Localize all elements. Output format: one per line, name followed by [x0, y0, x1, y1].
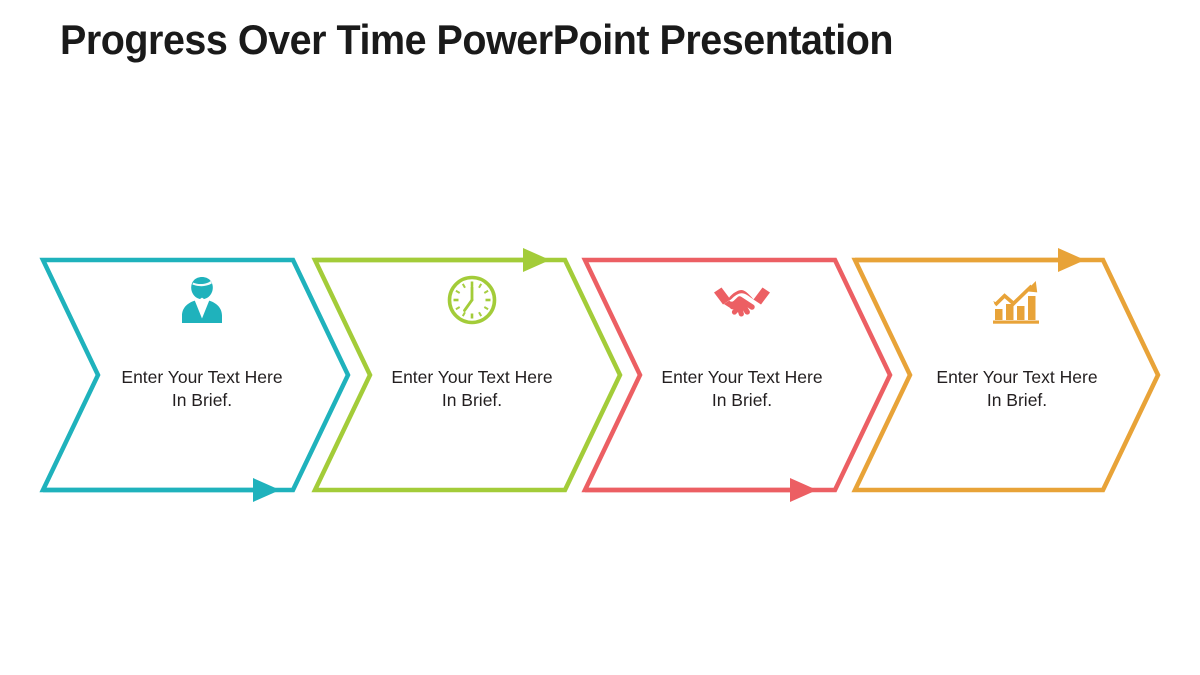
handshake-icon: [711, 282, 773, 322]
slide-canvas: Progress Over Time PowerPoint Presentati…: [0, 0, 1200, 675]
page-title: Progress Over Time PowerPoint Presentati…: [60, 14, 1085, 66]
chevron-process-diagram: Enter Your Text Here In Brief. Enter You…: [0, 230, 1200, 510]
handshake-icon-wrap: [710, 274, 774, 330]
step-arrow-head-4: [1058, 248, 1085, 272]
growth-chart-icon-wrap: [985, 274, 1049, 330]
growth-chart-icon: [991, 279, 1043, 325]
step-arrow-head-2: [523, 248, 550, 272]
step-arrow-head-3: [790, 478, 817, 502]
businessman-icon: [175, 274, 229, 326]
step-arrow-head-1: [253, 478, 280, 502]
clock-icon: [446, 274, 498, 326]
clock-icon-wrap: [440, 272, 504, 328]
businessman-icon-wrap: [170, 272, 234, 328]
